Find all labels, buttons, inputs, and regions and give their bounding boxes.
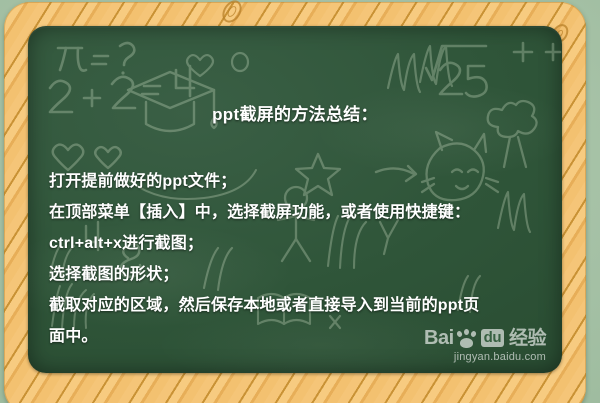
screenshot-root: ppt截屏的方法总结： 打开提前做好的ppt文件； 在顶部菜单【插入】中，选择截… <box>0 0 600 403</box>
baidu-watermark-url: jingyan.baidu.com <box>424 351 546 363</box>
board-instruction-list: 打开提前做好的ppt文件； 在顶部菜单【插入】中，选择截屏功能，或者使用快捷键：… <box>49 166 559 352</box>
wood-knot-icon <box>218 0 245 26</box>
board-line: 打开提前做好的ppt文件； <box>49 166 559 197</box>
board-line: 截取对应的区域，然后保存本地或者直接导入到当前的ppt页 <box>49 290 559 321</box>
board-content: ppt截屏的方法总结： 打开提前做好的ppt文件； 在顶部菜单【插入】中，选择截… <box>28 26 562 373</box>
board-line: 在顶部菜单【插入】中，选择截屏功能，或者使用快捷键： <box>49 197 559 228</box>
board-title: ppt截屏的方法总结： <box>28 100 562 125</box>
board-line: ctrl+alt+x进行截图； <box>49 228 559 259</box>
board-line: 选择截图的形状； <box>49 259 559 290</box>
chalkboard-surface: ppt截屏的方法总结： 打开提前做好的ppt文件； 在顶部菜单【插入】中，选择截… <box>28 26 562 373</box>
board-line: 面中。 <box>49 321 559 352</box>
